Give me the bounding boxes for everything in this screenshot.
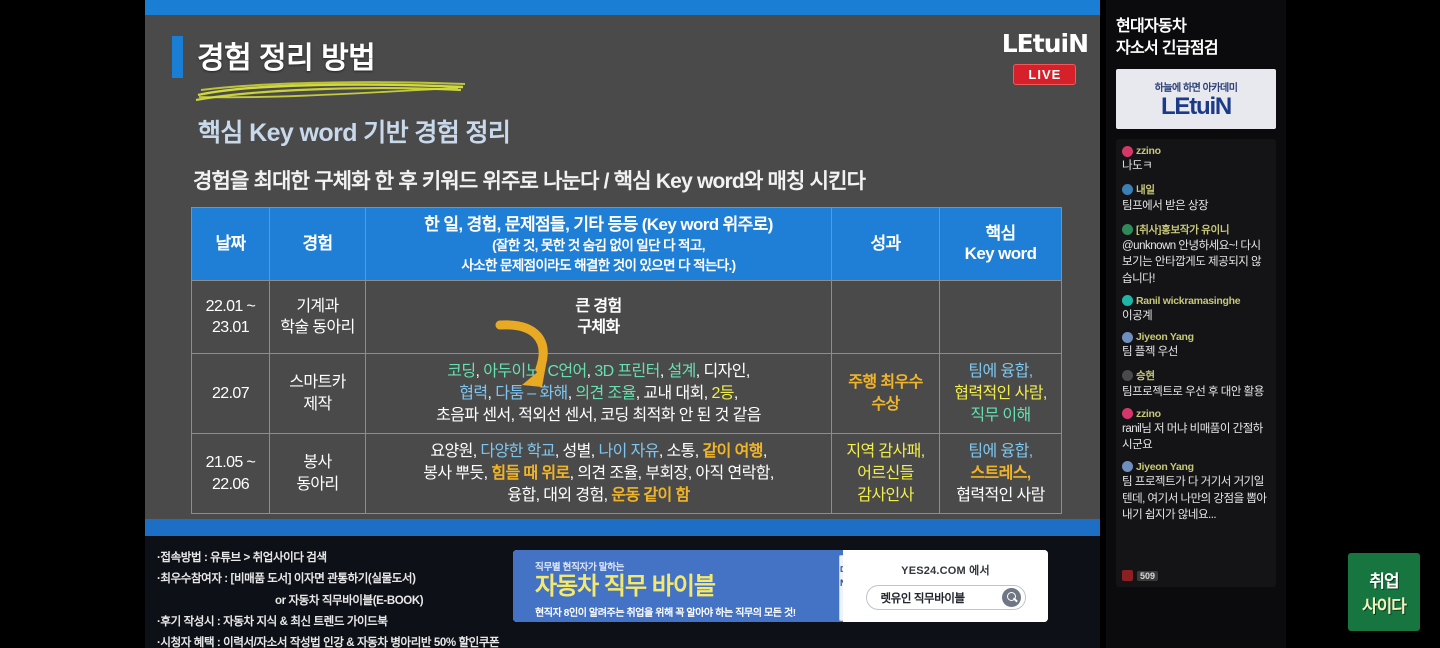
- stream-title: 현대자동차 자소서 긴급점검: [1116, 16, 1276, 59]
- chat-message: Jiyeon Yang팀 플젝 우선: [1122, 331, 1270, 361]
- keyword-line: 팀에 융합,: [944, 361, 1057, 383]
- keyword-run: ,: [660, 363, 668, 380]
- stream-title-line1: 현대자동차: [1116, 16, 1276, 38]
- chat-username[interactable]: Ranil wickramasinghe: [1136, 295, 1240, 307]
- chat-message-header: 내일: [1122, 182, 1270, 197]
- keyword-run: , 의견 조율, 부회장, 아직 연락함,: [570, 465, 774, 482]
- presentation-slide: 경험 정리 방법 핵심 Key word 기반 경험 정리 경험을 최대한 구체…: [145, 15, 1100, 519]
- footer-line: ·시청자 혜택 : 이력서/자소서 작성법 인강 & 자동차 병아리반 50% …: [157, 633, 517, 648]
- keyword-run: 나이 자유: [599, 443, 659, 460]
- avatar: [1122, 146, 1133, 157]
- keyword-run: 소통: [667, 443, 695, 460]
- table-row: 22.01 ~ 23.01 기계과 학술 동아리 큰 경험 구체화: [192, 281, 1062, 354]
- keyword-line: 팀에 융합,: [944, 441, 1057, 463]
- search-icon[interactable]: [1002, 588, 1021, 607]
- ad-headline: 자동차 직무 바이블: [535, 574, 843, 601]
- chat-message-text: 팀프에서 받은 상장: [1122, 198, 1270, 215]
- table-row: 21.05 ~ 22.06 봉사 동아리 요양원, 다양한 학교, 성별, 나이…: [192, 434, 1062, 514]
- table-row: 22.07 스마트카 제작 코딩, 아두이노, C언어, 3D 프린터, 설계,…: [192, 354, 1062, 434]
- chat-message-header: Ranil wickramasinghe: [1122, 295, 1270, 307]
- th-experience: 경험: [270, 208, 366, 281]
- footer-line: ·최우수참여자 : [비매품 도서] 이자면 관통하기(실물도서): [157, 569, 517, 590]
- chat-message-header: zzino: [1122, 408, 1270, 420]
- chat-message: 승현팀프로젝트로 우선 후 대안 활용: [1122, 368, 1270, 401]
- description-line: 융합, 대외 경험, 운동 같이 함: [370, 485, 827, 507]
- avatar: [1122, 224, 1133, 235]
- keyword-run: ,: [734, 385, 738, 402]
- keyword-run: 다툼 – 화해: [495, 385, 567, 402]
- stream-title-line2: 자소서 긴급점검: [1116, 38, 1276, 60]
- page-title: 경험 정리 방법: [197, 33, 375, 77]
- chat-message: zzino나도ㅋ: [1122, 145, 1270, 175]
- ad-search-box[interactable]: 렛유인 직무바이블: [866, 585, 1026, 610]
- cell-description: 요양원, 다양한 학교, 성별, 나이 자유, 소통, 같이 여행, 봉사 뿌듯…: [366, 434, 832, 514]
- ad-tagline: 직무별 현직자가 말하는: [535, 559, 843, 573]
- cell-result: [832, 281, 940, 354]
- slide-lead-text: 경험을 최대한 구체화 한 후 키워드 위주로 나눈다 / 핵심 Key wor…: [193, 165, 865, 195]
- letuin-logo: LEtuiN: [1002, 29, 1088, 58]
- ad-banner[interactable]: 직무별 현직자가 말하는 자동차 직무 바이블 현직자 8인이 알려주는 취업을…: [513, 550, 1048, 622]
- slide-subtitle: 핵심 Key word 기반 경험 정리: [198, 113, 510, 149]
- chat-message-text: 팀 플젝 우선: [1122, 344, 1270, 361]
- title-accent-bar: [172, 36, 183, 78]
- highlight-underline-icon: [193, 77, 503, 107]
- letuin-sidebar-logo: 하늘에 하면 아카데미 LEtuiN: [1116, 69, 1276, 129]
- keyword-run: 협력: [459, 385, 487, 402]
- experience-table: 날짜 경험 한 일, 경험, 문제점들, 기타 등등 (Key word 위주로…: [191, 207, 1062, 514]
- video-player[interactable]: 경험 정리 방법 핵심 Key word 기반 경험 정리 경험을 최대한 구체…: [145, 0, 1100, 648]
- chat-message-text: 이공계: [1122, 308, 1270, 325]
- logo-main-text: LEtuiN: [1161, 95, 1231, 119]
- keyword-run: ,: [763, 443, 767, 460]
- chat-message-header: Jiyeon Yang: [1122, 461, 1270, 473]
- table-header-row: 날짜 경험 한 일, 경험, 문제점들, 기타 등등 (Key word 위주로…: [192, 208, 1062, 281]
- keyword-run: 다양한 학교: [480, 443, 554, 460]
- logo-script-text: 하늘에 하면 아카데미: [1155, 79, 1238, 94]
- footer-line: ·후기 작성시 : 자동차 지식 & 최신 트렌드 가이드북: [157, 612, 517, 633]
- viewer-count-badge: 509: [1122, 570, 1158, 581]
- keyword-run: 운동 같이 함: [611, 487, 689, 504]
- cell-result: 주행 최우수 수상: [832, 354, 940, 434]
- broadcast-brand: LEtuiN LIVE: [1002, 29, 1088, 85]
- table-body: 22.01 ~ 23.01 기계과 학술 동아리 큰 경험 구체화: [192, 281, 1062, 514]
- avatar: [1122, 370, 1133, 381]
- cell-date: 22.07: [192, 354, 270, 434]
- table-header: 날짜 경험 한 일, 경험, 문제점들, 기타 등등 (Key word 위주로…: [192, 208, 1062, 281]
- keyword-run: 코딩: [447, 363, 475, 380]
- viewer-count: 509: [1137, 571, 1158, 581]
- chat-message: Jiyeon Yang팀 프로젝트가 다 거기서 거기일텐데, 여기서 나만의 …: [1122, 461, 1270, 524]
- keyword-run: 3D 프린터: [594, 363, 659, 380]
- avatar: [1122, 408, 1133, 419]
- chat-message-text: 팀 프로젝트가 다 거기서 거기일텐데, 여기서 나만의 강점을 뽑아내기 쉽지…: [1122, 474, 1270, 524]
- keyword-run: 설계: [668, 363, 696, 380]
- chat-username[interactable]: [취사]홍보작가 유이니: [1136, 222, 1229, 237]
- chat-message: [취사]홍보작가 유이니@unknown 안녕하세요~! 다시 보기는 안타깝게…: [1122, 222, 1270, 288]
- live-badge: LIVE: [1013, 64, 1076, 85]
- watermark-line2: 사이다: [1362, 592, 1406, 617]
- cell-description: 코딩, 아두이노, C언어, 3D 프린터, 설계, 디자인, 협력, 다툼 –…: [366, 354, 832, 434]
- cell-keyword: 팀에 융합,협력적인 사람,직무 이해: [940, 354, 1062, 434]
- cell-date: 21.05 ~ 22.06: [192, 434, 270, 514]
- description-line: 요양원, 다양한 학교, 성별, 나이 자유, 소통, 같이 여행,: [370, 441, 827, 463]
- keyword-run: 의견 조율: [575, 385, 635, 402]
- footer-line: ·접속방법 : 유튜브 > 취업사이다 검색: [157, 548, 517, 569]
- keyword-line: 스트레스,: [944, 463, 1057, 485]
- keyword-run: 디자인,: [703, 363, 749, 380]
- chat-message: Ranil wickramasinghe이공계: [1122, 295, 1270, 325]
- avatar: [1122, 184, 1133, 195]
- ad-right-panel: YES24.COM 에서 렛유인 직무바이블: [843, 550, 1048, 622]
- cell-result: 지역 감사패, 어르신들 감사인사: [832, 434, 940, 514]
- keyword-run: 봉사 뿌듯,: [423, 465, 491, 482]
- footer-info-list: ·접속방법 : 유튜브 > 취업사이다 검색 ·최우수참여자 : [비매품 도서…: [157, 548, 517, 648]
- avatar: [1122, 295, 1133, 306]
- channel-watermark-logo: 취업 사이다: [1348, 553, 1420, 631]
- screen: 경험 정리 방법 핵심 Key word 기반 경험 정리 경험을 최대한 구체…: [0, 0, 1440, 648]
- keyword-line: 협력적인 사람,: [944, 383, 1057, 405]
- chat-message-header: zzino: [1122, 145, 1270, 157]
- chat-message-text: @unknown 안녕하세요~! 다시 보기는 안타깝게도 제공되지 않습니다!: [1122, 238, 1270, 288]
- chat-username[interactable]: 승현: [1136, 368, 1155, 383]
- avatar: [1122, 461, 1133, 472]
- ad-subline: 현직자 8인이 알려주는 취업을 위해 꼭 알아야 하는 직무의 모든 것!: [535, 604, 843, 619]
- live-dot-icon: [1122, 570, 1133, 581]
- chat-message-header: 승현: [1122, 368, 1270, 383]
- cell-experience: 봉사 동아리: [270, 434, 366, 514]
- chat-username[interactable]: zzino: [1136, 145, 1161, 157]
- chat-sidebar: 현대자동차 자소서 긴급점검 하늘에 하면 아카데미 LEtuiN zzino나…: [1106, 0, 1286, 648]
- slide-bottom-bar: [145, 519, 1100, 536]
- chat-message: zzinoranil님 저 머냐 비매품이 간절하시군요: [1122, 408, 1270, 454]
- keyword-line: 협력적인 사람: [944, 485, 1057, 507]
- keyword-line: 직무 이해: [944, 405, 1057, 427]
- th-description: 한 일, 경험, 문제점들, 기타 등등 (Key word 위주로) (잘한 …: [366, 208, 832, 281]
- chat-message-text: ranil님 저 머냐 비매품이 간절하시군요: [1122, 421, 1270, 454]
- keyword-run: 융합, 대외 경험,: [507, 487, 611, 504]
- chat-message-list[interactable]: zzino나도ㅋ내일팀프에서 받은 상장[취사]홍보작가 유이니@unknown…: [1116, 139, 1276, 587]
- chat-message-header: Jiyeon Yang: [1122, 331, 1270, 343]
- ad-search-value: 렛유인 직무바이블: [881, 590, 965, 606]
- keyword-run: 교내 대회,: [643, 385, 711, 402]
- cell-keyword: 팀에 융합,스트레스,협력적인 사람: [940, 434, 1062, 514]
- keyword-run: 힘들 때 위로: [491, 465, 569, 482]
- keyword-run: ,: [659, 443, 667, 460]
- th-keyword: 핵심 Key word: [940, 208, 1062, 281]
- chat-message: 내일팀프에서 받은 상장: [1122, 182, 1270, 215]
- keyword-run: C언어: [547, 363, 586, 380]
- keyword-run: ,: [591, 443, 599, 460]
- cell-keyword: [940, 281, 1062, 354]
- chat-username[interactable]: 내일: [1136, 182, 1155, 197]
- keyword-lines: 팀에 융합,스트레스,협력적인 사람: [944, 441, 1057, 506]
- chat-username[interactable]: Jiyeon Yang: [1136, 461, 1194, 473]
- description-line: 코딩, 아두이노, C언어, 3D 프린터, 설계, 디자인,: [370, 361, 827, 383]
- description-line: 협력, 다툼 – 화해, 의견 조율, 교내 대회, 2등,: [370, 383, 827, 405]
- keyword-run: 같이 여행: [702, 443, 762, 460]
- watermark-line1: 취업: [1369, 567, 1398, 592]
- keyword-run: 아두이노: [483, 363, 539, 380]
- description-line: 초음파 센서, 적외선 센서, 코딩 최적화 안 된 것 같음: [370, 405, 827, 427]
- cell-date: 22.01 ~ 23.01: [192, 281, 270, 354]
- chat-message-text: 나도ㅋ: [1122, 158, 1270, 175]
- chat-message-text: 팀프로젝트로 우선 후 대안 활용: [1122, 384, 1270, 401]
- video-footer: ·접속방법 : 유튜브 > 취업사이다 검색 ·최우수참여자 : [비매품 도서…: [145, 536, 1100, 648]
- slide-top-bar: [145, 0, 1100, 15]
- slide-title-group: 경험 정리 방법: [172, 33, 375, 78]
- cell-experience: 기계과 학술 동아리: [270, 281, 366, 354]
- keyword-run: 요양원,: [430, 443, 480, 460]
- keyword-run: 2등: [711, 385, 733, 402]
- chat-username[interactable]: zzino: [1136, 408, 1161, 420]
- store-name: YES24.COM 에서: [901, 562, 990, 578]
- description-line: 봉사 뿌듯, 힘들 때 위로, 의견 조율, 부회장, 아직 연락함,: [370, 463, 827, 485]
- chat-username[interactable]: Jiyeon Yang: [1136, 331, 1194, 343]
- ad-left-panel: 직무별 현직자가 말하는 자동차 직무 바이블 현직자 8인이 알려주는 취업을…: [513, 550, 843, 622]
- keyword-lines: 팀에 융합,협력적인 사람,직무 이해: [944, 361, 1057, 426]
- chat-message-header: [취사]홍보작가 유이니: [1122, 222, 1270, 237]
- footer-line: or 자동차 직무바이블(E-BOOK): [157, 591, 517, 612]
- keyword-run: ,: [555, 443, 563, 460]
- keyword-run: 성별: [563, 443, 591, 460]
- keyword-run: 초음파 센서, 적외선 센서, 코딩 최적화 안 된 것 같음: [436, 407, 761, 424]
- th-date: 날짜: [192, 208, 270, 281]
- th-result: 성과: [832, 208, 940, 281]
- avatar: [1122, 332, 1133, 343]
- cell-description: 큰 경험 구체화: [366, 281, 832, 354]
- cell-experience: 스마트카 제작: [270, 354, 366, 434]
